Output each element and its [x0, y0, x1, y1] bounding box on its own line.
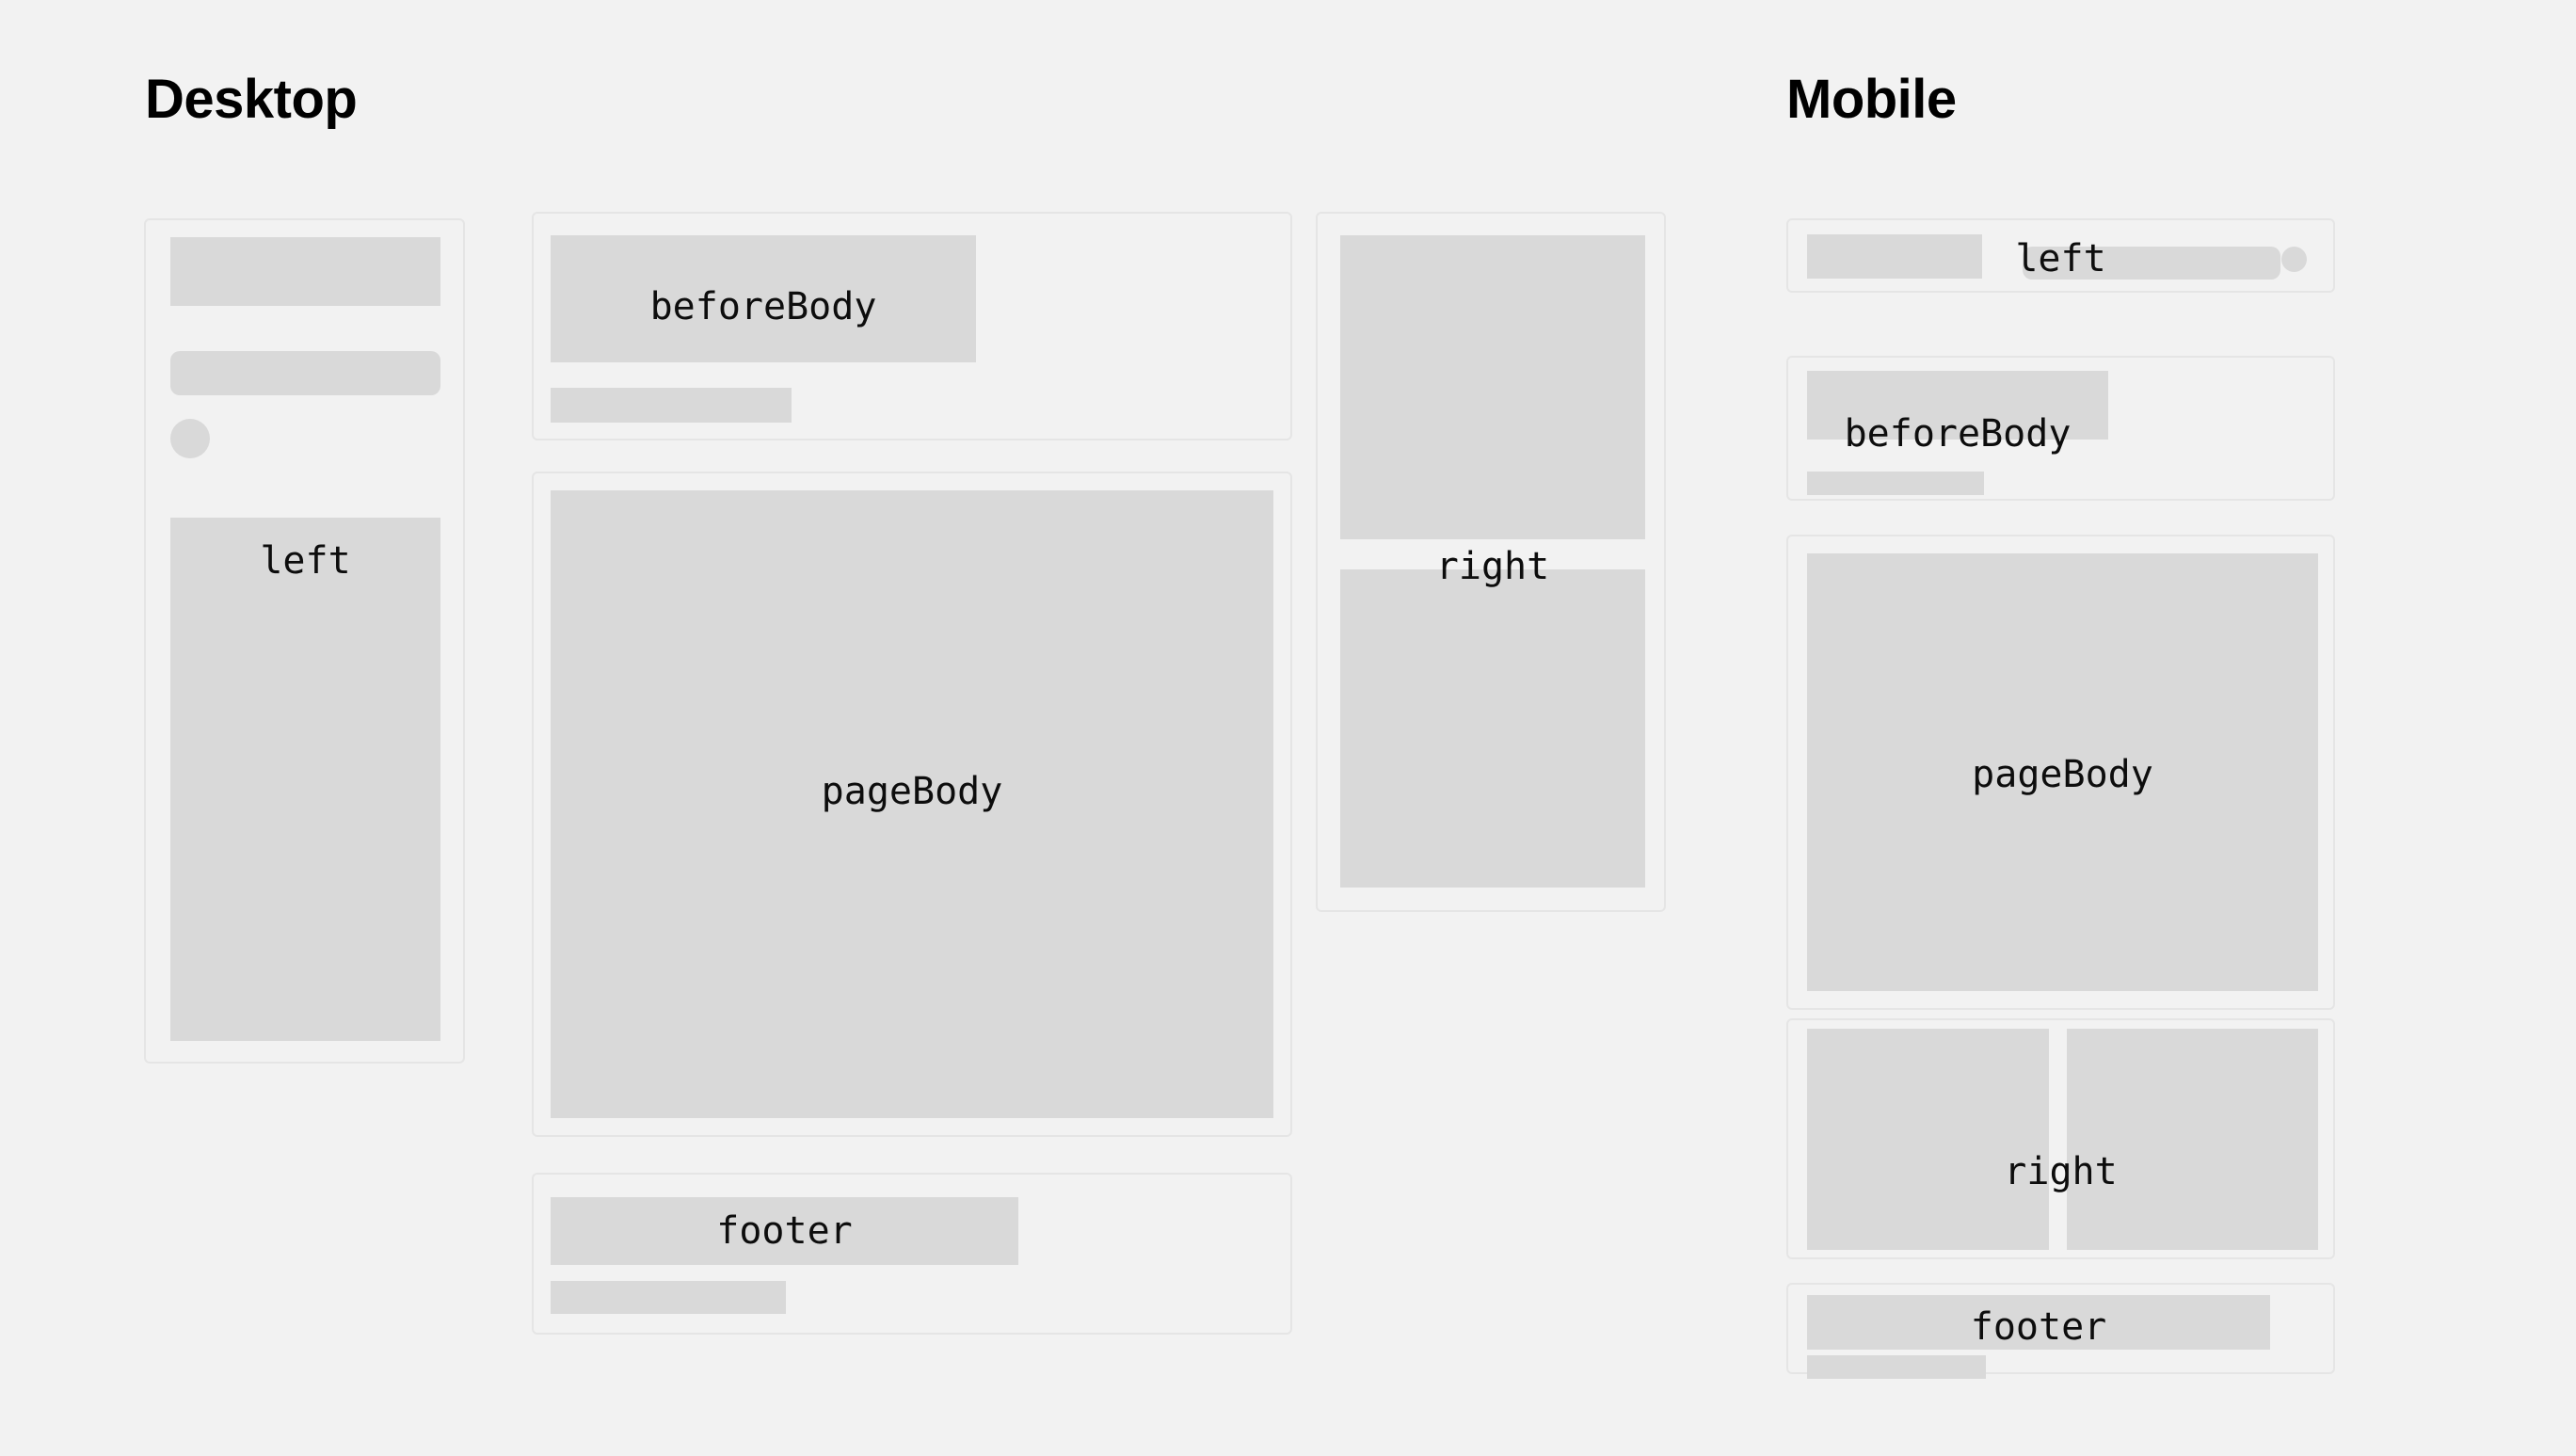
- desktop-right-placeholder-block-1: [1340, 235, 1645, 539]
- mobile-pagebody-placeholder-block: [1807, 553, 2318, 991]
- mobile-footer-placeholder-block-2: [1807, 1355, 1986, 1379]
- desktop-right-placeholder-block-2: [1340, 569, 1645, 888]
- mobile-left-placeholder-dot-icon: [2281, 247, 2307, 272]
- desktop-footer-placeholder-block-2: [551, 1281, 786, 1314]
- mobile-footer-placeholder-block-1: [1807, 1295, 2270, 1350]
- mobile-beforebody-placeholder-block-1: [1807, 371, 2108, 440]
- desktop-left-placeholder-panel-block: [170, 518, 440, 1041]
- desktop-beforebody-placeholder-block-2: [551, 388, 792, 423]
- mobile-beforebody-placeholder-block-2: [1807, 472, 1984, 495]
- mobile-section-title: Mobile: [1786, 72, 1957, 127]
- mobile-right-placeholder-block-2: [2067, 1029, 2318, 1250]
- mobile-left-placeholder-block-1: [1807, 234, 1982, 279]
- mobile-right-placeholder-block-1: [1807, 1029, 2049, 1250]
- desktop-left-placeholder-bar: [170, 351, 440, 395]
- desktop-section-title: Desktop: [145, 72, 357, 127]
- mobile-left-placeholder-bar: [2023, 247, 2280, 280]
- desktop-pagebody-placeholder-block: [551, 490, 1273, 1118]
- desktop-footer-placeholder-block-1: [551, 1197, 1018, 1265]
- desktop-beforebody-placeholder-block-1: [551, 235, 976, 362]
- desktop-left-placeholder-block-1: [170, 237, 440, 306]
- desktop-left-placeholder-dot-icon: [170, 419, 210, 458]
